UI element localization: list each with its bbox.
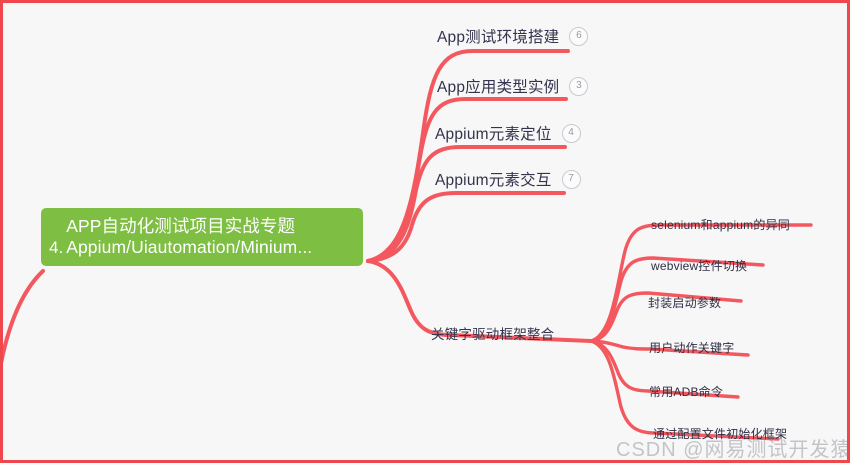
subbranch-label: 封装启动参数 [648,294,721,311]
branch-badge: 6 [569,27,588,46]
subbranch-node-selenium-appium-differences[interactable]: selenium和appium的异同 [651,216,790,233]
subbranch-node-encapsulate-startup-params[interactable]: 封装启动参数 [648,294,721,311]
edge-incoming-left [3,271,43,463]
edge-root-to-branch-3 [368,147,565,261]
subbranch-label: 用户动作关键字 [649,339,734,356]
root-node-line-1: APP自动化测试项目实战专题 [66,216,312,237]
branch-node-appium-element-interaction[interactable]: Appium元素交互 7 [435,168,581,190]
branch-node-app-test-environment[interactable]: App测试环境搭建 6 [437,25,588,47]
branch-node-keyword-driven-framework[interactable]: 关键字驱动框架整合 [431,323,554,343]
root-node-index: 4. [49,238,63,258]
branch-badge: 7 [562,170,581,189]
branch-label: App应用类型实例 [437,75,559,97]
subbranch-node-webview-control-switch[interactable]: webview控件切换 [651,257,747,274]
branch-badge: 3 [569,77,588,96]
subbranch-node-common-adb-commands[interactable]: 常用ADB命令 [649,383,723,400]
watermark-text: CSDN @网易测试开发猿 [616,433,850,462]
root-node-line-2: Appium/Uiautomation/Minium... [66,237,312,258]
branch-label: 关键字驱动框架整合 [431,323,554,343]
subbranch-label: webview控件切换 [651,257,747,274]
subbranch-node-user-action-keywords[interactable]: 用户动作关键字 [649,339,734,356]
subbranch-label: selenium和appium的异同 [651,216,790,233]
branch-badge: 4 [562,124,581,143]
branch-label: Appium元素定位 [435,122,552,144]
edge-branch5-to-sub-1 [591,225,811,341]
branch-node-appium-element-locating[interactable]: Appium元素定位 4 [435,122,581,144]
branch-label: Appium元素交互 [435,168,552,190]
root-node[interactable]: 4. APP自动化测试项目实战专题 Appium/Uiautomation/Mi… [41,208,363,266]
mindmap-canvas: 4. APP自动化测试项目实战专题 Appium/Uiautomation/Mi… [0,0,850,463]
root-node-text: APP自动化测试项目实战专题 Appium/Uiautomation/Miniu… [66,216,312,257]
branch-node-app-type-examples[interactable]: App应用类型实例 3 [437,75,588,97]
edge-root-to-branch-4 [368,193,564,261]
branch-label: App测试环境搭建 [437,25,559,47]
subbranch-label: 常用ADB命令 [649,383,723,400]
